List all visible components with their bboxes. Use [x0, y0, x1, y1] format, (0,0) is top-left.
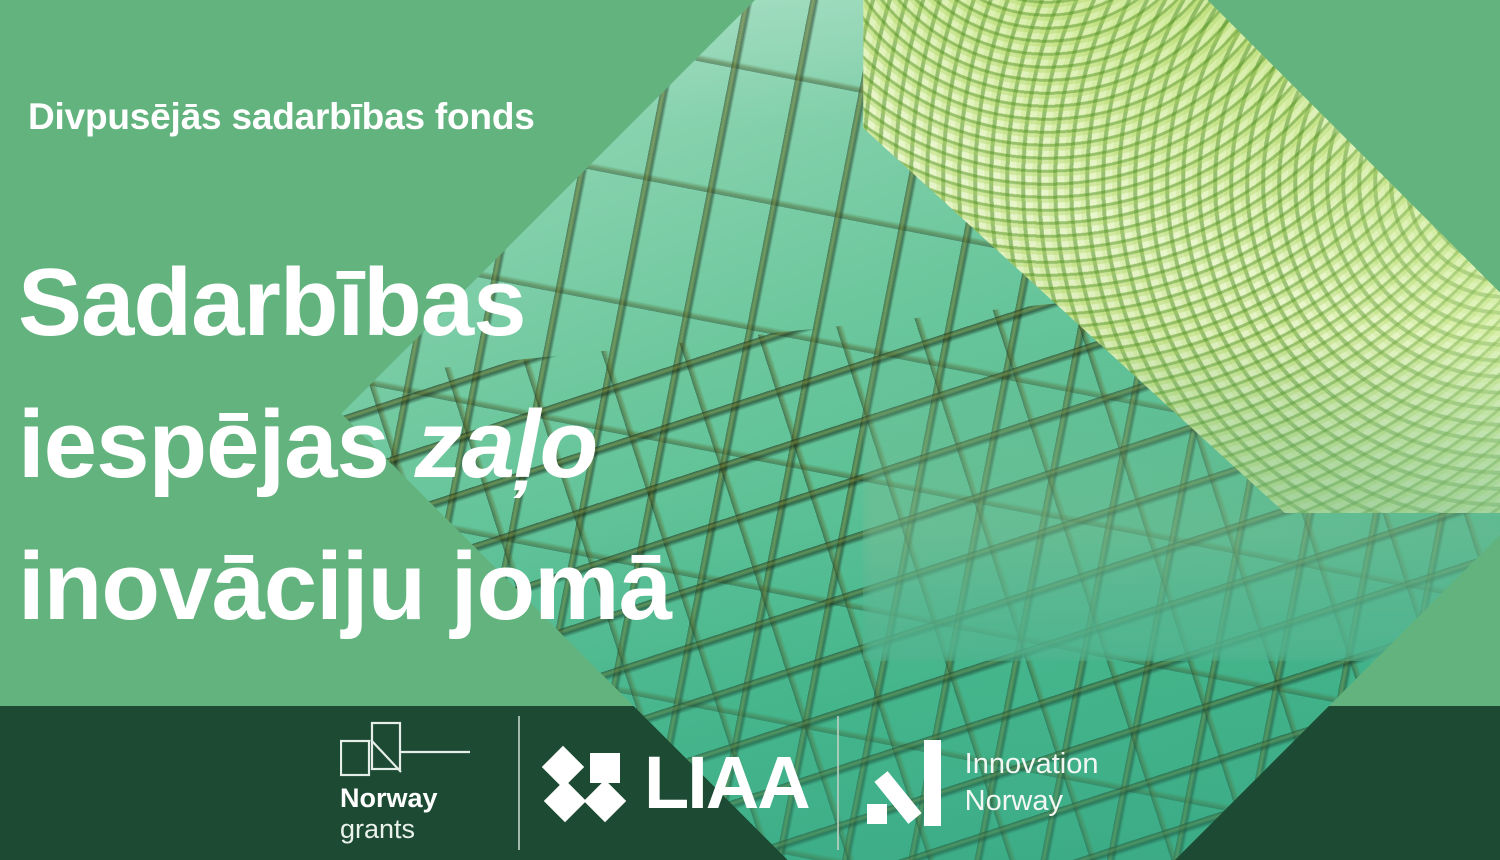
liaa-wordmark: LIAA — [644, 746, 809, 820]
logo-norway-grants[interactable]: Norway grants — [340, 721, 490, 846]
logo-divider — [518, 716, 520, 850]
innovation-norway-mark-icon — [867, 740, 945, 826]
logo-innovation-norway[interactable]: Innovation Norway — [867, 740, 1099, 826]
innovation-norway-line2: Norway — [965, 783, 1099, 820]
logo-divider — [837, 716, 839, 850]
logo-liaa[interactable]: LIAA — [548, 746, 809, 820]
sun-flare — [1351, 0, 1469, 99]
canopy-facade-blend — [863, 335, 1500, 661]
norway-grants-line2: grants — [340, 814, 472, 845]
promo-banner: Divpusējās sadarbības fonds Sadarbības i… — [0, 0, 1500, 860]
innovation-norway-line1: Innovation — [965, 746, 1099, 783]
headline-emphasis: zaļo — [415, 391, 598, 498]
page-title: Sadarbības iespējas zaļo inovāciju jomā — [18, 232, 778, 658]
norway-grants-line1: Norway — [340, 783, 472, 814]
innovation-norway-wordmark: Innovation Norway — [965, 746, 1099, 820]
logo-row: Norway grants LIAA Innovation — [340, 706, 1170, 860]
liaa-diamonds-icon — [548, 746, 622, 820]
eyebrow-text: Divpusējās sadarbības fonds — [28, 96, 535, 138]
norway-grants-mark-icon — [340, 721, 472, 779]
tree-branch — [1365, 51, 1500, 165]
headline-segment-2: inovāciju jomā — [18, 533, 671, 640]
